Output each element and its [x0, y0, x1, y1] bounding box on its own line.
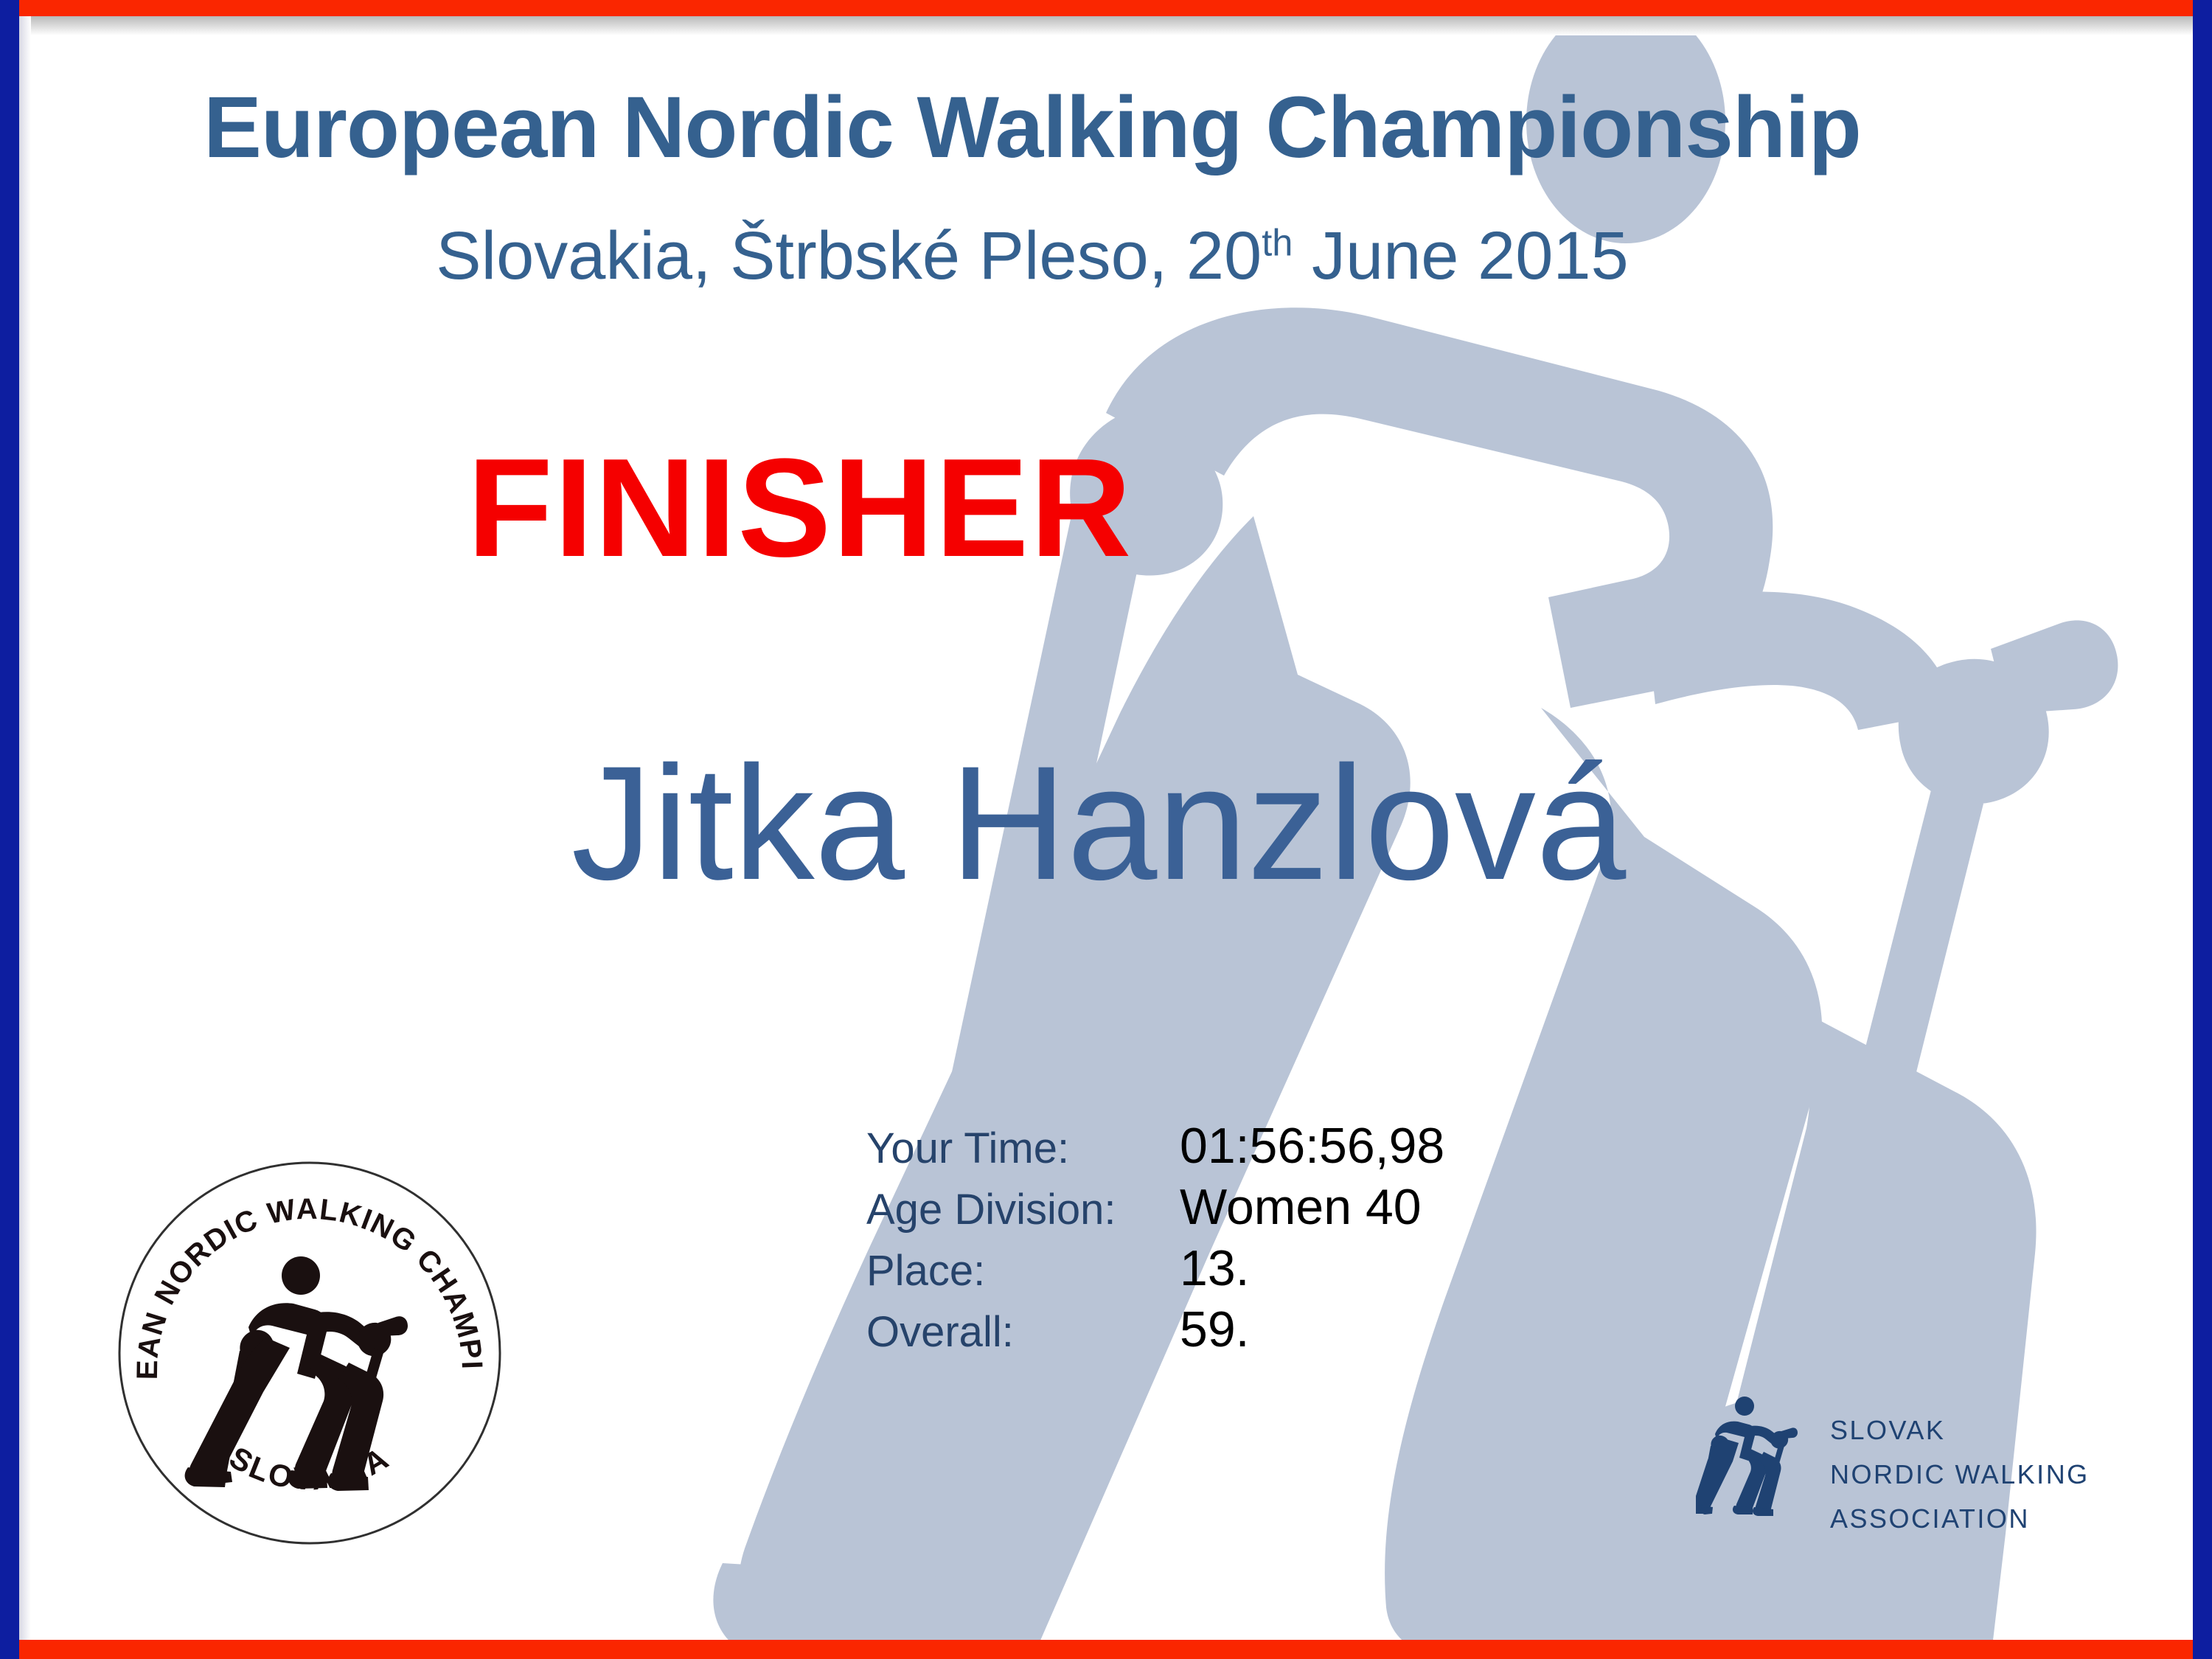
result-label-age-division: Age Division:	[866, 1185, 1180, 1234]
result-value-overall: 59.	[1180, 1301, 1250, 1358]
status-badge: FINISHER	[0, 428, 1600, 588]
table-row: Place: 13.	[866, 1239, 1677, 1301]
result-value-place: 13.	[1180, 1239, 1250, 1297]
frame-border-top	[0, 0, 2212, 16]
frame-border-left	[0, 0, 19, 1659]
association-logo-line1: SLOVAK	[1830, 1415, 1945, 1445]
frame-border-bottom	[0, 1640, 2212, 1659]
subtitle-suffix: June 2015	[1293, 218, 1628, 293]
association-logo-line2: NORDIC WALKING	[1830, 1459, 2090, 1489]
athlete-name: Jitka Hanzlová	[0, 730, 2197, 917]
frame-inner-shadow-left	[19, 16, 31, 1643]
association-logo-line3: ASSOCIATION	[1830, 1503, 2030, 1534]
result-label-your-time: Your Time:	[866, 1124, 1180, 1173]
table-row: Overall: 59.	[866, 1301, 1677, 1362]
frame-border-right	[2193, 0, 2212, 1659]
table-row: Age Division: Women 40	[866, 1178, 1677, 1239]
result-label-overall: Overall:	[866, 1307, 1180, 1357]
championship-logo: EUROPEAN NORDIC WALKING CHAMPIONSHIP SLO…	[114, 1158, 505, 1548]
results-table: Your Time: 01:56:56,98 Age Division: Wom…	[866, 1117, 1677, 1362]
page-title: European Nordic Walking Championship	[0, 77, 2065, 178]
event-subtitle: Slovakia, Štrbské Pleso, 20th June 2015	[0, 218, 2065, 295]
association-walker-icon	[1696, 1397, 1798, 1516]
association-logo: SLOVAK NORDIC WALKING ASSOCIATION	[1696, 1390, 2153, 1559]
result-label-place: Place:	[866, 1246, 1180, 1295]
frame-inner-shadow-top	[19, 16, 2193, 35]
result-value-your-time: 01:56:56,98	[1180, 1117, 1444, 1175]
table-row: Your Time: 01:56:56,98	[866, 1117, 1677, 1178]
subtitle-prefix: Slovakia, Štrbské Pleso, 20	[436, 218, 1262, 293]
subtitle-ordinal: th	[1262, 221, 1293, 263]
certificate: European Nordic Walking Championship Slo…	[0, 0, 2212, 1659]
result-value-age-division: Women 40	[1180, 1178, 1422, 1236]
